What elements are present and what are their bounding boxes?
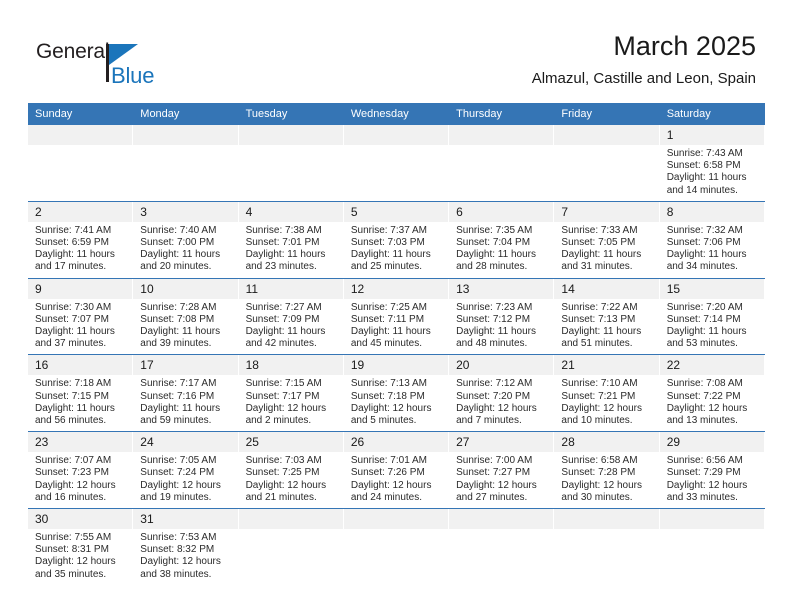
day-number: 15 xyxy=(660,279,765,299)
daylight-text-line1: Daylight: 11 hours xyxy=(140,249,232,261)
daylight-text-line1: Daylight: 12 hours xyxy=(667,480,759,492)
sunrise-text: Sunrise: 7:17 AM xyxy=(140,378,232,390)
calendar-day-cell-empty xyxy=(133,125,238,201)
day-number xyxy=(28,125,133,145)
daylight-text-line1: Daylight: 12 hours xyxy=(140,480,232,492)
calendar-day-cell[interactable]: 23Sunrise: 7:07 AMSunset: 7:23 PMDayligh… xyxy=(28,432,133,509)
daylight-text-line2: and 48 minutes. xyxy=(456,338,548,350)
day-number: 2 xyxy=(28,202,133,222)
daylight-text-line1: Daylight: 12 hours xyxy=(35,556,127,568)
sunset-text: Sunset: 7:03 PM xyxy=(351,237,443,249)
day-details: Sunrise: 7:15 AMSunset: 7:17 PMDaylight:… xyxy=(239,375,344,431)
sunrise-text: Sunrise: 7:32 AM xyxy=(667,225,759,237)
daylight-text-line1: Daylight: 11 hours xyxy=(561,326,653,338)
daylight-text-line1: Daylight: 12 hours xyxy=(140,556,232,568)
daylight-text-line2: and 27 minutes. xyxy=(456,492,548,504)
calendar-day-cell[interactable]: 30Sunrise: 7:55 AMSunset: 8:31 PMDayligh… xyxy=(28,509,133,585)
day-number: 13 xyxy=(449,279,554,299)
brand-name-general: General xyxy=(36,40,109,64)
calendar-day-cell[interactable]: 11Sunrise: 7:27 AMSunset: 7:09 PMDayligh… xyxy=(239,278,344,355)
daylight-text-line1: Daylight: 12 hours xyxy=(246,480,338,492)
calendar-grid: Sunday Monday Tuesday Wednesday Thursday… xyxy=(28,103,765,585)
calendar-day-cell[interactable]: 29Sunrise: 6:56 AMSunset: 7:29 PMDayligh… xyxy=(660,432,765,509)
day-number: 30 xyxy=(28,509,133,529)
sunrise-text: Sunrise: 7:12 AM xyxy=(456,378,548,390)
calendar-day-cell-empty xyxy=(660,509,765,585)
day-number: 29 xyxy=(660,432,765,452)
sunrise-text: Sunrise: 7:37 AM xyxy=(351,225,443,237)
calendar-day-cell-empty xyxy=(28,125,133,201)
day-details: Sunrise: 6:58 AMSunset: 7:28 PMDaylight:… xyxy=(554,452,659,508)
calendar-day-cell[interactable]: 1Sunrise: 7:43 AMSunset: 6:58 PMDaylight… xyxy=(660,125,765,201)
sunrise-text: Sunrise: 7:10 AM xyxy=(561,378,653,390)
calendar-day-cell[interactable]: 26Sunrise: 7:01 AMSunset: 7:26 PMDayligh… xyxy=(344,432,449,509)
sunrise-text: Sunrise: 7:41 AM xyxy=(35,225,127,237)
daylight-text-line2: and 14 minutes. xyxy=(667,185,759,197)
day-number xyxy=(239,125,344,145)
daylight-text-line2: and 16 minutes. xyxy=(35,492,127,504)
sunset-text: Sunset: 7:15 PM xyxy=(35,391,127,403)
day-number: 7 xyxy=(554,202,659,222)
weekday-header-monday: Monday xyxy=(133,103,238,125)
weekday-header-thursday: Thursday xyxy=(449,103,554,125)
daylight-text-line2: and 35 minutes. xyxy=(35,569,127,581)
sunset-text: Sunset: 7:11 PM xyxy=(351,314,443,326)
sunrise-text: Sunrise: 7:03 AM xyxy=(246,455,338,467)
day-number: 23 xyxy=(28,432,133,452)
day-details: Sunrise: 7:33 AMSunset: 7:05 PMDaylight:… xyxy=(554,222,659,278)
calendar-day-cell[interactable]: 22Sunrise: 7:08 AMSunset: 7:22 PMDayligh… xyxy=(660,355,765,432)
daylight-text-line2: and 34 minutes. xyxy=(667,261,759,273)
daylight-text-line1: Daylight: 11 hours xyxy=(351,326,443,338)
sunrise-text: Sunrise: 7:28 AM xyxy=(140,302,232,314)
daylight-text-line2: and 17 minutes. xyxy=(35,261,127,273)
daylight-text-line1: Daylight: 11 hours xyxy=(35,249,127,261)
sunset-text: Sunset: 7:22 PM xyxy=(667,391,759,403)
daylight-text-line2: and 56 minutes. xyxy=(35,415,127,427)
daylight-text-line2: and 25 minutes. xyxy=(351,261,443,273)
day-details: Sunrise: 7:07 AMSunset: 7:23 PMDaylight:… xyxy=(28,452,133,508)
sunrise-text: Sunrise: 7:00 AM xyxy=(456,455,548,467)
day-number xyxy=(344,125,449,145)
sunset-text: Sunset: 7:27 PM xyxy=(456,467,548,479)
brand-logo[interactable]: General Blue xyxy=(36,40,186,92)
sunrise-text: Sunrise: 7:53 AM xyxy=(140,532,232,544)
calendar-day-cell[interactable]: 16Sunrise: 7:18 AMSunset: 7:15 PMDayligh… xyxy=(28,355,133,432)
calendar-day-cell-empty xyxy=(344,125,449,201)
sunset-text: Sunset: 7:07 PM xyxy=(35,314,127,326)
calendar-day-cell[interactable]: 13Sunrise: 7:23 AMSunset: 7:12 PMDayligh… xyxy=(449,278,554,355)
daylight-text-line2: and 39 minutes. xyxy=(140,338,232,350)
day-details: Sunrise: 7:05 AMSunset: 7:24 PMDaylight:… xyxy=(133,452,238,508)
daylight-text-line2: and 59 minutes. xyxy=(140,415,232,427)
daylight-text-line2: and 53 minutes. xyxy=(667,338,759,350)
sunrise-text: Sunrise: 7:13 AM xyxy=(351,378,443,390)
day-number xyxy=(554,125,659,145)
sunset-text: Sunset: 7:18 PM xyxy=(351,391,443,403)
calendar-day-cell[interactable]: 24Sunrise: 7:05 AMSunset: 7:24 PMDayligh… xyxy=(133,432,238,509)
sunrise-text: Sunrise: 6:56 AM xyxy=(667,455,759,467)
sunset-text: Sunset: 7:26 PM xyxy=(351,467,443,479)
brand-name-blue: Blue xyxy=(111,63,154,89)
daylight-text-line2: and 20 minutes. xyxy=(140,261,232,273)
daylight-text-line1: Daylight: 11 hours xyxy=(140,326,232,338)
sunset-text: Sunset: 7:09 PM xyxy=(246,314,338,326)
daylight-text-line1: Daylight: 11 hours xyxy=(456,249,548,261)
day-details: Sunrise: 7:27 AMSunset: 7:09 PMDaylight:… xyxy=(239,299,344,355)
daylight-text-line1: Daylight: 12 hours xyxy=(456,403,548,415)
daylight-text-line1: Daylight: 12 hours xyxy=(351,403,443,415)
daylight-text-line1: Daylight: 11 hours xyxy=(35,326,127,338)
sunset-text: Sunset: 7:23 PM xyxy=(35,467,127,479)
day-details: Sunrise: 7:17 AMSunset: 7:16 PMDaylight:… xyxy=(133,375,238,431)
day-number: 19 xyxy=(344,355,449,375)
calendar-page: General Blue March 2025 Almazul, Castill… xyxy=(0,0,792,612)
daylight-text-line2: and 33 minutes. xyxy=(667,492,759,504)
sunrise-text: Sunrise: 7:22 AM xyxy=(561,302,653,314)
calendar-day-cell[interactable]: 25Sunrise: 7:03 AMSunset: 7:25 PMDayligh… xyxy=(239,432,344,509)
daylight-text-line2: and 28 minutes. xyxy=(456,261,548,273)
daylight-text-line1: Daylight: 12 hours xyxy=(561,403,653,415)
day-number xyxy=(554,509,659,529)
day-details: Sunrise: 7:23 AMSunset: 7:12 PMDaylight:… xyxy=(449,299,554,355)
sunrise-text: Sunrise: 7:07 AM xyxy=(35,455,127,467)
calendar-table: Sunday Monday Tuesday Wednesday Thursday… xyxy=(28,103,765,585)
calendar-day-cell-empty xyxy=(554,125,659,201)
daylight-text-line1: Daylight: 11 hours xyxy=(667,172,759,184)
calendar-day-cell[interactable]: 28Sunrise: 6:58 AMSunset: 7:28 PMDayligh… xyxy=(554,432,659,509)
day-number: 17 xyxy=(133,355,238,375)
daylight-text-line1: Daylight: 12 hours xyxy=(351,480,443,492)
day-number xyxy=(344,509,449,529)
day-number: 12 xyxy=(344,279,449,299)
day-details: Sunrise: 7:41 AMSunset: 6:59 PMDaylight:… xyxy=(28,222,133,278)
sunrise-text: Sunrise: 7:25 AM xyxy=(351,302,443,314)
sunrise-text: Sunrise: 7:40 AM xyxy=(140,225,232,237)
day-details: Sunrise: 7:38 AMSunset: 7:01 PMDaylight:… xyxy=(239,222,344,278)
day-number: 3 xyxy=(133,202,238,222)
sunset-text: Sunset: 7:25 PM xyxy=(246,467,338,479)
calendar-day-cell-empty xyxy=(344,509,449,585)
weekday-header-tuesday: Tuesday xyxy=(239,103,344,125)
calendar-week-row: 1Sunrise: 7:43 AMSunset: 6:58 PMDaylight… xyxy=(28,125,765,201)
day-number xyxy=(449,509,554,529)
daylight-text-line2: and 10 minutes. xyxy=(561,415,653,427)
day-details: Sunrise: 7:10 AMSunset: 7:21 PMDaylight:… xyxy=(554,375,659,431)
daylight-text-line2: and 2 minutes. xyxy=(246,415,338,427)
page-title: March 2025 xyxy=(532,30,756,62)
sunset-text: Sunset: 7:04 PM xyxy=(456,237,548,249)
sunset-text: Sunset: 7:14 PM xyxy=(667,314,759,326)
day-details: Sunrise: 7:28 AMSunset: 7:08 PMDaylight:… xyxy=(133,299,238,355)
calendar-day-cell[interactable]: 7Sunrise: 7:33 AMSunset: 7:05 PMDaylight… xyxy=(554,201,659,278)
daylight-text-line1: Daylight: 12 hours xyxy=(667,403,759,415)
calendar-day-cell[interactable]: 5Sunrise: 7:37 AMSunset: 7:03 PMDaylight… xyxy=(344,201,449,278)
calendar-day-cell[interactable]: 14Sunrise: 7:22 AMSunset: 7:13 PMDayligh… xyxy=(554,278,659,355)
day-number: 22 xyxy=(660,355,765,375)
day-number: 18 xyxy=(239,355,344,375)
day-number: 11 xyxy=(239,279,344,299)
day-details: Sunrise: 7:12 AMSunset: 7:20 PMDaylight:… xyxy=(449,375,554,431)
daylight-text-line1: Daylight: 11 hours xyxy=(246,326,338,338)
calendar-week-row: 9Sunrise: 7:30 AMSunset: 7:07 PMDaylight… xyxy=(28,278,765,355)
daylight-text-line1: Daylight: 12 hours xyxy=(561,480,653,492)
sunrise-text: Sunrise: 7:05 AM xyxy=(140,455,232,467)
day-number: 5 xyxy=(344,202,449,222)
sunset-text: Sunset: 7:06 PM xyxy=(667,237,759,249)
daylight-text-line1: Daylight: 12 hours xyxy=(246,403,338,415)
sunrise-text: Sunrise: 7:38 AM xyxy=(246,225,338,237)
title-block: March 2025 Almazul, Castille and Leon, S… xyxy=(532,30,756,90)
day-details: Sunrise: 7:00 AMSunset: 7:27 PMDaylight:… xyxy=(449,452,554,508)
sunrise-text: Sunrise: 7:30 AM xyxy=(35,302,127,314)
sunset-text: Sunset: 7:05 PM xyxy=(561,237,653,249)
daylight-text-line1: Daylight: 11 hours xyxy=(667,249,759,261)
day-details: Sunrise: 7:37 AMSunset: 7:03 PMDaylight:… xyxy=(344,222,449,278)
day-details: Sunrise: 7:55 AMSunset: 8:31 PMDaylight:… xyxy=(28,529,133,585)
sunrise-text: Sunrise: 7:27 AM xyxy=(246,302,338,314)
sunrise-text: Sunrise: 7:18 AM xyxy=(35,378,127,390)
sunrise-text: Sunrise: 7:55 AM xyxy=(35,532,127,544)
day-details: Sunrise: 7:13 AMSunset: 7:18 PMDaylight:… xyxy=(344,375,449,431)
calendar-day-cell[interactable]: 20Sunrise: 7:12 AMSunset: 7:20 PMDayligh… xyxy=(449,355,554,432)
calendar-day-cell[interactable]: 9Sunrise: 7:30 AMSunset: 7:07 PMDaylight… xyxy=(28,278,133,355)
daylight-text-line1: Daylight: 11 hours xyxy=(35,403,127,415)
sunrise-text: Sunrise: 7:01 AM xyxy=(351,455,443,467)
day-number: 6 xyxy=(449,202,554,222)
sunrise-text: Sunrise: 7:08 AM xyxy=(667,378,759,390)
calendar-day-cell[interactable]: 12Sunrise: 7:25 AMSunset: 7:11 PMDayligh… xyxy=(344,278,449,355)
day-details: Sunrise: 7:25 AMSunset: 7:11 PMDaylight:… xyxy=(344,299,449,355)
day-details: Sunrise: 7:30 AMSunset: 7:07 PMDaylight:… xyxy=(28,299,133,355)
sunset-text: Sunset: 7:20 PM xyxy=(456,391,548,403)
calendar-day-cell-empty xyxy=(449,509,554,585)
sunset-text: Sunset: 7:28 PM xyxy=(561,467,653,479)
sunset-text: Sunset: 7:00 PM xyxy=(140,237,232,249)
sunrise-text: Sunrise: 7:33 AM xyxy=(561,225,653,237)
sunset-text: Sunset: 7:16 PM xyxy=(140,391,232,403)
calendar-day-cell[interactable]: 18Sunrise: 7:15 AMSunset: 7:17 PMDayligh… xyxy=(239,355,344,432)
day-details: Sunrise: 7:35 AMSunset: 7:04 PMDaylight:… xyxy=(449,222,554,278)
daylight-text-line2: and 51 minutes. xyxy=(561,338,653,350)
calendar-day-cell[interactable]: 4Sunrise: 7:38 AMSunset: 7:01 PMDaylight… xyxy=(239,201,344,278)
sunset-text: Sunset: 7:12 PM xyxy=(456,314,548,326)
sunrise-text: Sunrise: 7:20 AM xyxy=(667,302,759,314)
daylight-text-line1: Daylight: 12 hours xyxy=(456,480,548,492)
calendar-day-cell[interactable]: 31Sunrise: 7:53 AMSunset: 8:32 PMDayligh… xyxy=(133,509,238,585)
day-details: Sunrise: 6:56 AMSunset: 7:29 PMDaylight:… xyxy=(660,452,765,508)
day-number: 21 xyxy=(554,355,659,375)
calendar-day-cell-empty xyxy=(239,509,344,585)
sunset-text: Sunset: 8:32 PM xyxy=(140,544,232,556)
day-details: Sunrise: 7:53 AMSunset: 8:32 PMDaylight:… xyxy=(133,529,238,585)
day-number: 9 xyxy=(28,279,133,299)
calendar-week-row: 16Sunrise: 7:18 AMSunset: 7:15 PMDayligh… xyxy=(28,355,765,432)
calendar-day-cell[interactable]: 3Sunrise: 7:40 AMSunset: 7:00 PMDaylight… xyxy=(133,201,238,278)
calendar-day-cell[interactable]: 17Sunrise: 7:17 AMSunset: 7:16 PMDayligh… xyxy=(133,355,238,432)
day-number: 25 xyxy=(239,432,344,452)
daylight-text-line2: and 5 minutes. xyxy=(351,415,443,427)
daylight-text-line2: and 38 minutes. xyxy=(140,569,232,581)
daylight-text-line2: and 42 minutes. xyxy=(246,338,338,350)
sunrise-text: Sunrise: 7:15 AM xyxy=(246,378,338,390)
sunrise-text: Sunrise: 7:23 AM xyxy=(456,302,548,314)
day-number: 10 xyxy=(133,279,238,299)
day-number: 20 xyxy=(449,355,554,375)
sunset-text: Sunset: 7:17 PM xyxy=(246,391,338,403)
sunset-text: Sunset: 7:24 PM xyxy=(140,467,232,479)
day-number: 26 xyxy=(344,432,449,452)
page-header: General Blue March 2025 Almazul, Castill… xyxy=(0,0,792,103)
calendar-day-cell[interactable]: 2Sunrise: 7:41 AMSunset: 6:59 PMDaylight… xyxy=(28,201,133,278)
day-details: Sunrise: 7:18 AMSunset: 7:15 PMDaylight:… xyxy=(28,375,133,431)
daylight-text-line1: Daylight: 11 hours xyxy=(140,403,232,415)
blue-flag-triangle-icon xyxy=(109,44,138,65)
day-details: Sunrise: 7:20 AMSunset: 7:14 PMDaylight:… xyxy=(660,299,765,355)
day-number: 31 xyxy=(133,509,238,529)
calendar-day-cell[interactable]: 6Sunrise: 7:35 AMSunset: 7:04 PMDaylight… xyxy=(449,201,554,278)
day-number: 4 xyxy=(239,202,344,222)
day-number: 28 xyxy=(554,432,659,452)
calendar-week-row: 30Sunrise: 7:55 AMSunset: 8:31 PMDayligh… xyxy=(28,509,765,585)
daylight-text-line2: and 30 minutes. xyxy=(561,492,653,504)
day-number xyxy=(660,509,765,529)
day-details: Sunrise: 7:40 AMSunset: 7:00 PMDaylight:… xyxy=(133,222,238,278)
calendar-day-cell[interactable]: 15Sunrise: 7:20 AMSunset: 7:14 PMDayligh… xyxy=(660,278,765,355)
calendar-day-cell-empty xyxy=(554,509,659,585)
calendar-day-cell[interactable]: 21Sunrise: 7:10 AMSunset: 7:21 PMDayligh… xyxy=(554,355,659,432)
page-subtitle: Almazul, Castille and Leon, Spain xyxy=(532,68,756,90)
sunset-text: Sunset: 7:21 PM xyxy=(561,391,653,403)
day-details: Sunrise: 7:43 AMSunset: 6:58 PMDaylight:… xyxy=(660,145,765,201)
daylight-text-line2: and 21 minutes. xyxy=(246,492,338,504)
day-number xyxy=(239,509,344,529)
daylight-text-line1: Daylight: 11 hours xyxy=(246,249,338,261)
sunset-text: Sunset: 8:31 PM xyxy=(35,544,127,556)
sunset-text: Sunset: 7:29 PM xyxy=(667,467,759,479)
sunrise-text: Sunrise: 6:58 AM xyxy=(561,455,653,467)
calendar-day-cell-empty xyxy=(449,125,554,201)
daylight-text-line2: and 37 minutes. xyxy=(35,338,127,350)
weekday-header-row: Sunday Monday Tuesday Wednesday Thursday… xyxy=(28,103,765,125)
day-number xyxy=(449,125,554,145)
day-number: 1 xyxy=(660,125,765,145)
calendar-day-cell[interactable]: 10Sunrise: 7:28 AMSunset: 7:08 PMDayligh… xyxy=(133,278,238,355)
daylight-text-line2: and 23 minutes. xyxy=(246,261,338,273)
daylight-text-line1: Daylight: 11 hours xyxy=(561,249,653,261)
daylight-text-line2: and 24 minutes. xyxy=(351,492,443,504)
daylight-text-line2: and 31 minutes. xyxy=(561,261,653,273)
calendar-day-cell-empty xyxy=(239,125,344,201)
weekday-header-friday: Friday xyxy=(554,103,659,125)
day-number: 16 xyxy=(28,355,133,375)
daylight-text-line2: and 45 minutes. xyxy=(351,338,443,350)
daylight-text-line1: Daylight: 11 hours xyxy=(351,249,443,261)
day-details: Sunrise: 7:08 AMSunset: 7:22 PMDaylight:… xyxy=(660,375,765,431)
day-number: 27 xyxy=(449,432,554,452)
calendar-week-row: 2Sunrise: 7:41 AMSunset: 6:59 PMDaylight… xyxy=(28,201,765,278)
sunset-text: Sunset: 7:01 PM xyxy=(246,237,338,249)
sunrise-text: Sunrise: 7:35 AM xyxy=(456,225,548,237)
day-details: Sunrise: 7:32 AMSunset: 7:06 PMDaylight:… xyxy=(660,222,765,278)
calendar-day-cell[interactable]: 19Sunrise: 7:13 AMSunset: 7:18 PMDayligh… xyxy=(344,355,449,432)
calendar-body: 1Sunrise: 7:43 AMSunset: 6:58 PMDaylight… xyxy=(28,125,765,585)
daylight-text-line1: Daylight: 11 hours xyxy=(456,326,548,338)
weekday-header-saturday: Saturday xyxy=(660,103,765,125)
daylight-text-line1: Daylight: 11 hours xyxy=(667,326,759,338)
day-number: 8 xyxy=(660,202,765,222)
day-number xyxy=(133,125,238,145)
weekday-header-sunday: Sunday xyxy=(28,103,133,125)
sunrise-text: Sunrise: 7:43 AM xyxy=(667,148,759,160)
calendar-day-cell[interactable]: 8Sunrise: 7:32 AMSunset: 7:06 PMDaylight… xyxy=(660,201,765,278)
daylight-text-line2: and 13 minutes. xyxy=(667,415,759,427)
day-details: Sunrise: 7:03 AMSunset: 7:25 PMDaylight:… xyxy=(239,452,344,508)
daylight-text-line2: and 7 minutes. xyxy=(456,415,548,427)
daylight-text-line2: and 19 minutes. xyxy=(140,492,232,504)
weekday-header-wednesday: Wednesday xyxy=(344,103,449,125)
day-details: Sunrise: 7:01 AMSunset: 7:26 PMDaylight:… xyxy=(344,452,449,508)
calendar-week-row: 23Sunrise: 7:07 AMSunset: 7:23 PMDayligh… xyxy=(28,432,765,509)
day-number: 14 xyxy=(554,279,659,299)
sunset-text: Sunset: 7:08 PM xyxy=(140,314,232,326)
sunset-text: Sunset: 6:59 PM xyxy=(35,237,127,249)
day-number: 24 xyxy=(133,432,238,452)
daylight-text-line1: Daylight: 12 hours xyxy=(35,480,127,492)
calendar-day-cell[interactable]: 27Sunrise: 7:00 AMSunset: 7:27 PMDayligh… xyxy=(449,432,554,509)
sunset-text: Sunset: 6:58 PM xyxy=(667,160,759,172)
sunset-text: Sunset: 7:13 PM xyxy=(561,314,653,326)
day-details: Sunrise: 7:22 AMSunset: 7:13 PMDaylight:… xyxy=(554,299,659,355)
